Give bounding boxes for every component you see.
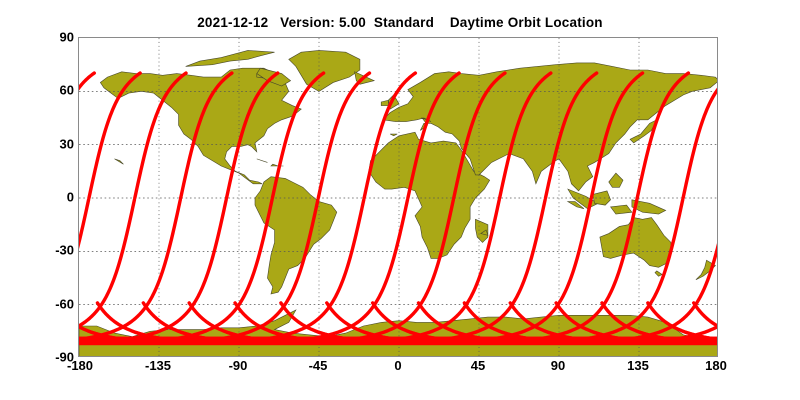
x-axis-tick-m180: -180 xyxy=(45,358,115,373)
x-axis-tick-m90: -90 xyxy=(203,358,273,373)
x-axis-tick-135: 135 xyxy=(603,358,673,373)
southern-convergence-band-upper xyxy=(79,337,718,340)
map-plot-area xyxy=(78,37,718,357)
map-canvas xyxy=(79,38,718,357)
y-axis-tick-0: 0 xyxy=(14,190,74,205)
y-axis-tick-90: 90 xyxy=(14,30,74,45)
x-axis-tick-90: 90 xyxy=(523,358,593,373)
x-axis-tick-m135: -135 xyxy=(123,358,193,373)
x-axis-tick-0: 0 xyxy=(363,358,433,373)
y-axis-tick-m60: -60 xyxy=(14,297,74,312)
y-axis-tick-m30: -30 xyxy=(14,243,74,258)
figure-title: 2021-12-12 Version: 5.00 Standard Daytim… xyxy=(0,15,800,30)
southern-convergence-band xyxy=(79,339,718,345)
y-axis-tick-60: 60 xyxy=(14,83,74,98)
x-axis-tick-45: 45 xyxy=(443,358,513,373)
y-axis-tick-30: 30 xyxy=(14,137,74,152)
x-axis-tick-180: 180 xyxy=(681,358,751,373)
orbit-location-figure: 2021-12-12 Version: 5.00 Standard Daytim… xyxy=(0,0,800,400)
x-axis-tick-m45: -45 xyxy=(283,358,353,373)
